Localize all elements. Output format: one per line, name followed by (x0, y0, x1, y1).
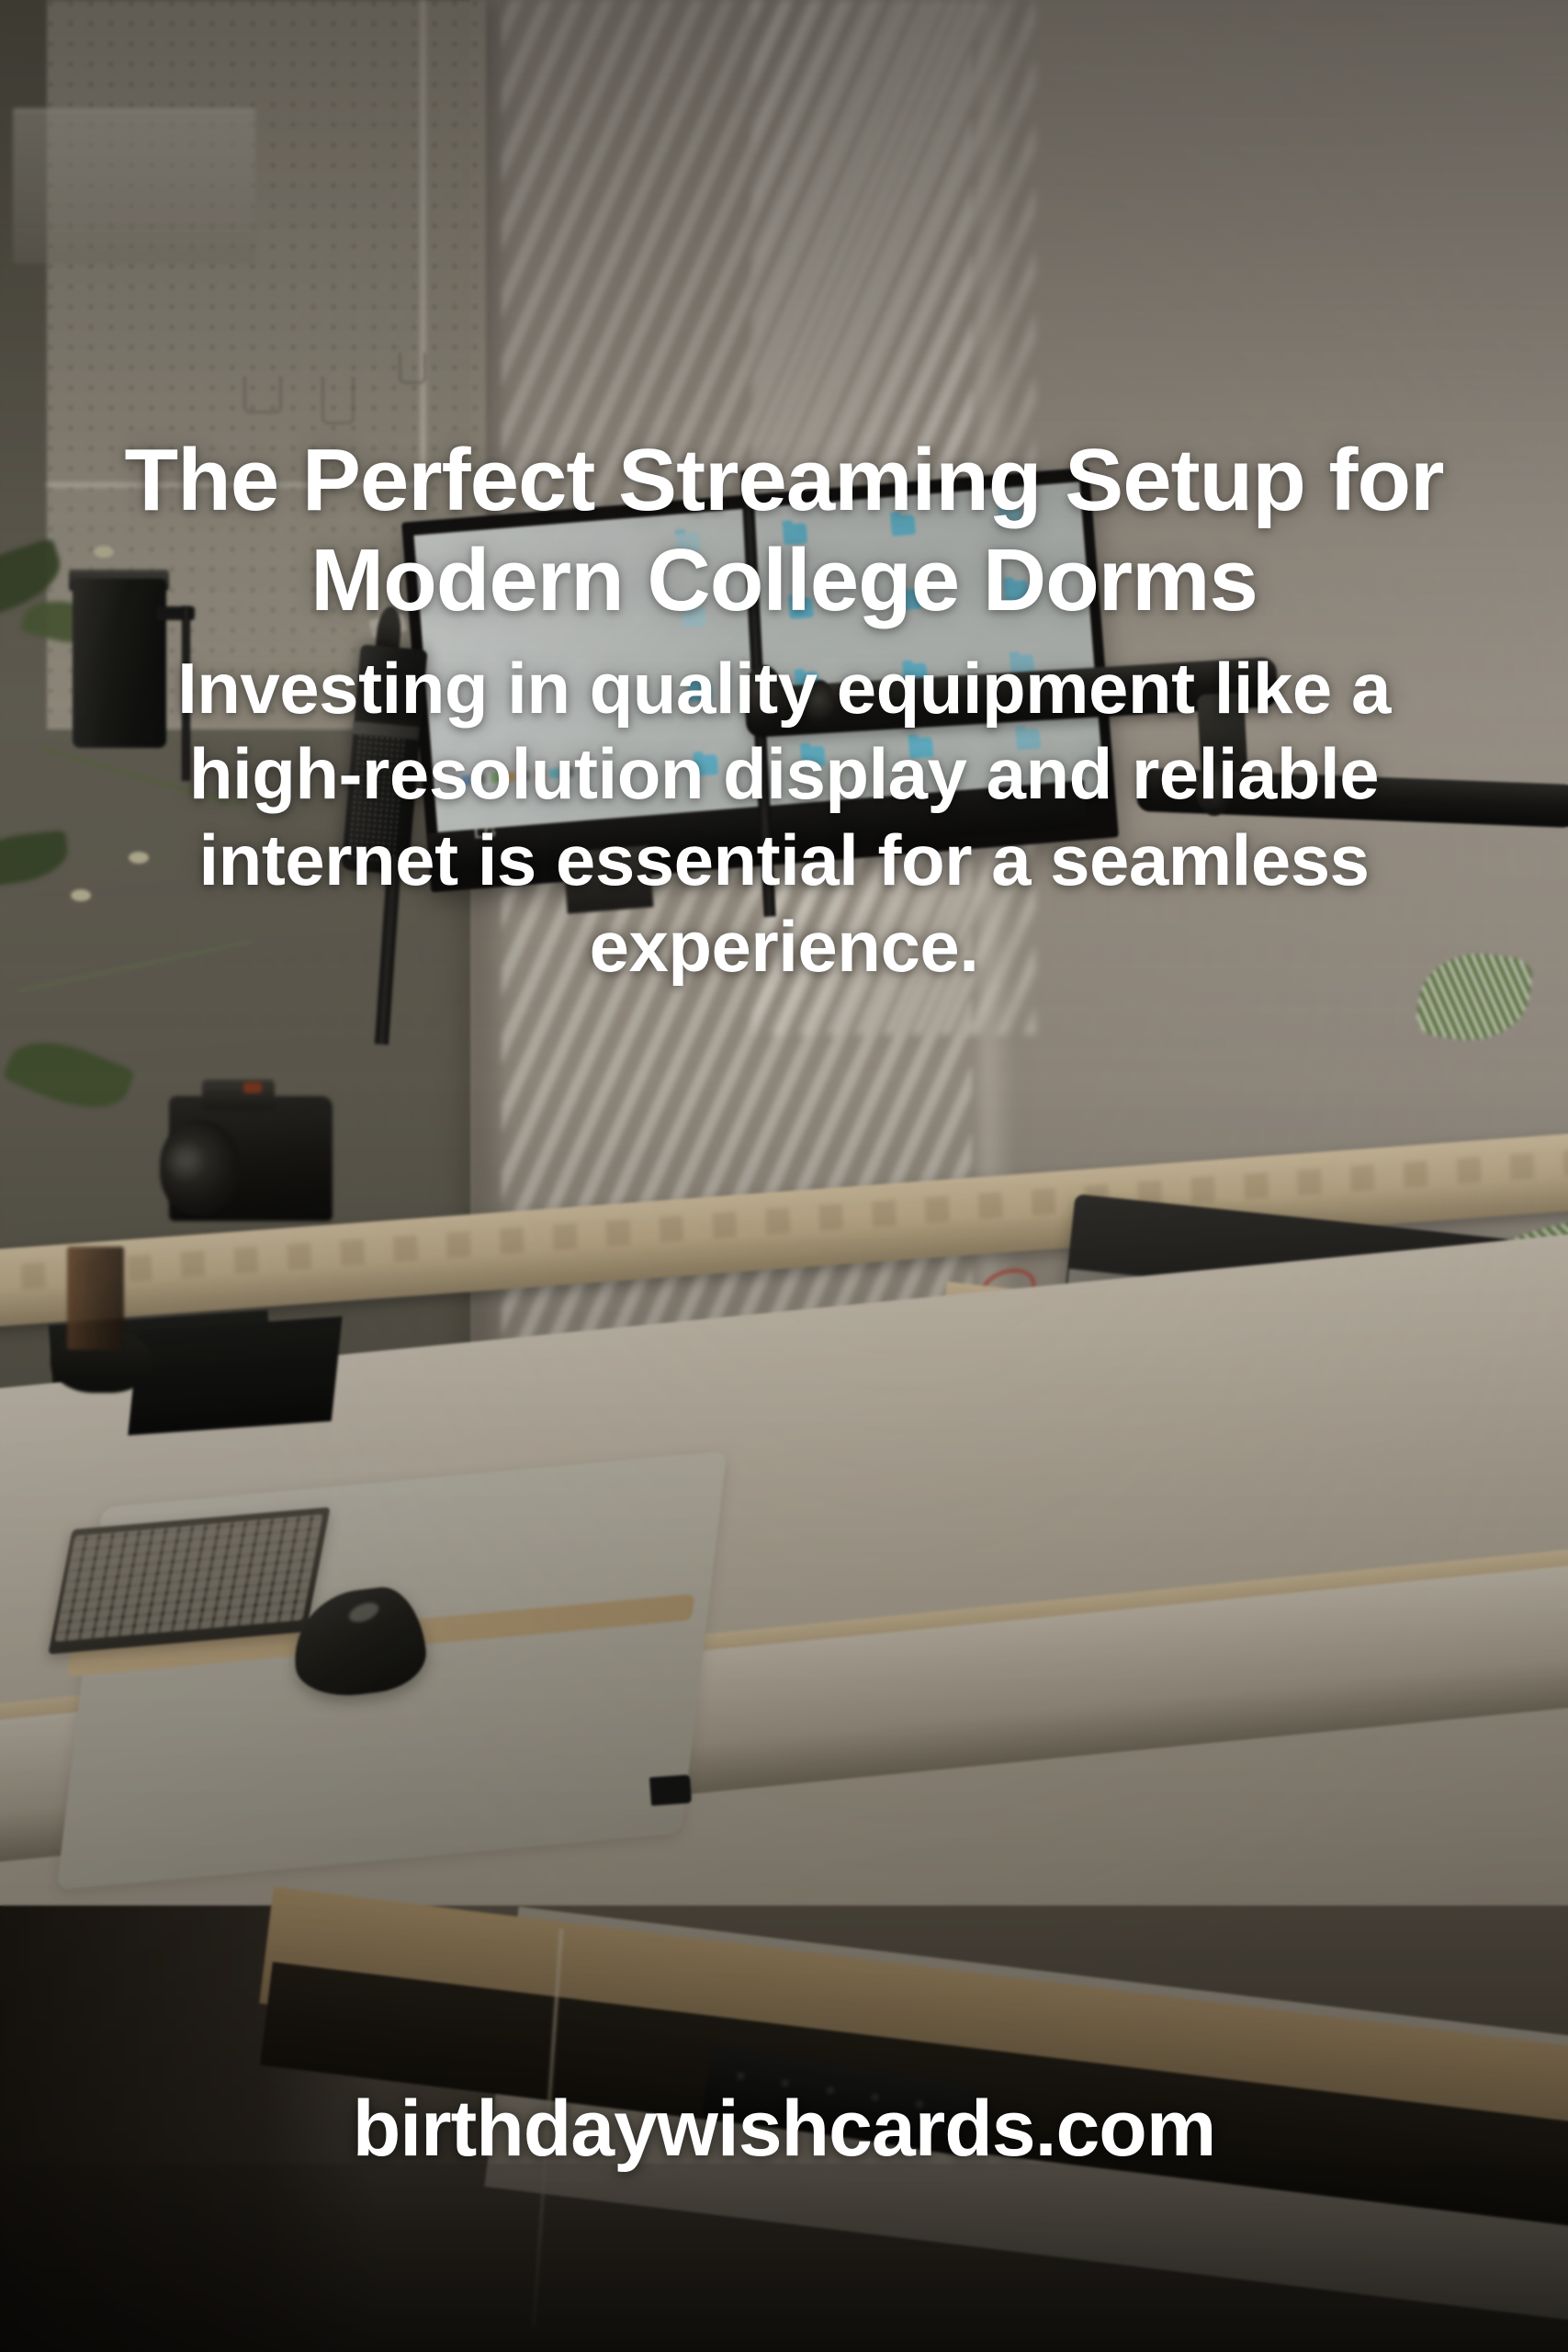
background-photo: LG nenfn (0, 0, 1568, 2352)
amber-jar (67, 1247, 123, 1351)
folder-icon (693, 754, 718, 776)
desk-lamp-stem (182, 606, 190, 780)
monitor-arm-pivot (1196, 762, 1232, 816)
monitor-stand-neck (562, 845, 653, 913)
pegboard-edge-horizontal (47, 482, 423, 488)
folder-icon (788, 597, 814, 619)
pegboard-hook (321, 377, 355, 424)
dock-icon (564, 766, 575, 777)
dock-icon (505, 771, 516, 782)
desk-mat-pull-tab (649, 1774, 692, 1805)
dock-icon (520, 770, 531, 781)
pegboard-hook (399, 353, 426, 384)
dock-icon (446, 775, 457, 786)
plant-bud (129, 852, 149, 864)
folder-icon (1003, 580, 1029, 602)
folder-icon (686, 680, 712, 702)
folder-icon (674, 532, 700, 554)
folder-icon (1015, 728, 1041, 750)
dock-icon (535, 768, 546, 779)
pegboard-edge-vertical (420, 0, 426, 494)
dslr-camera-accent (243, 1082, 262, 1094)
black-speaker (128, 1317, 342, 1435)
dock-icon (491, 772, 502, 783)
wall-shelf-tray (13, 108, 256, 264)
folder-icon (681, 605, 706, 628)
folder-icon (908, 737, 933, 759)
folder-icon (997, 506, 1022, 528)
coffee-grinder (73, 579, 166, 748)
social-graphic-card: LG nenfn (0, 0, 1568, 2352)
folder-icon (889, 514, 915, 537)
dock-icon (549, 767, 560, 778)
floor-shadow (0, 2164, 1568, 2352)
power-socket (734, 2068, 748, 2082)
folder-icon (800, 745, 826, 767)
lg-logo: LG (473, 821, 511, 843)
brand-url: birthdaywishcards.com (0, 2084, 1568, 2175)
desktop-folder-grid (645, 502, 1075, 825)
folder-icon (896, 589, 921, 611)
dock-icon (461, 775, 472, 786)
photo-watermark: nenfn (1286, 706, 1335, 724)
pegboard-hook (243, 377, 282, 413)
dslr-camera-lens-highlight (164, 1138, 205, 1183)
folder-icon (782, 523, 807, 545)
monitor-arm-knob (806, 680, 834, 727)
dslr-camera-top-plate (202, 1080, 275, 1110)
dock-icon (476, 774, 487, 785)
plant-bud (71, 889, 91, 901)
